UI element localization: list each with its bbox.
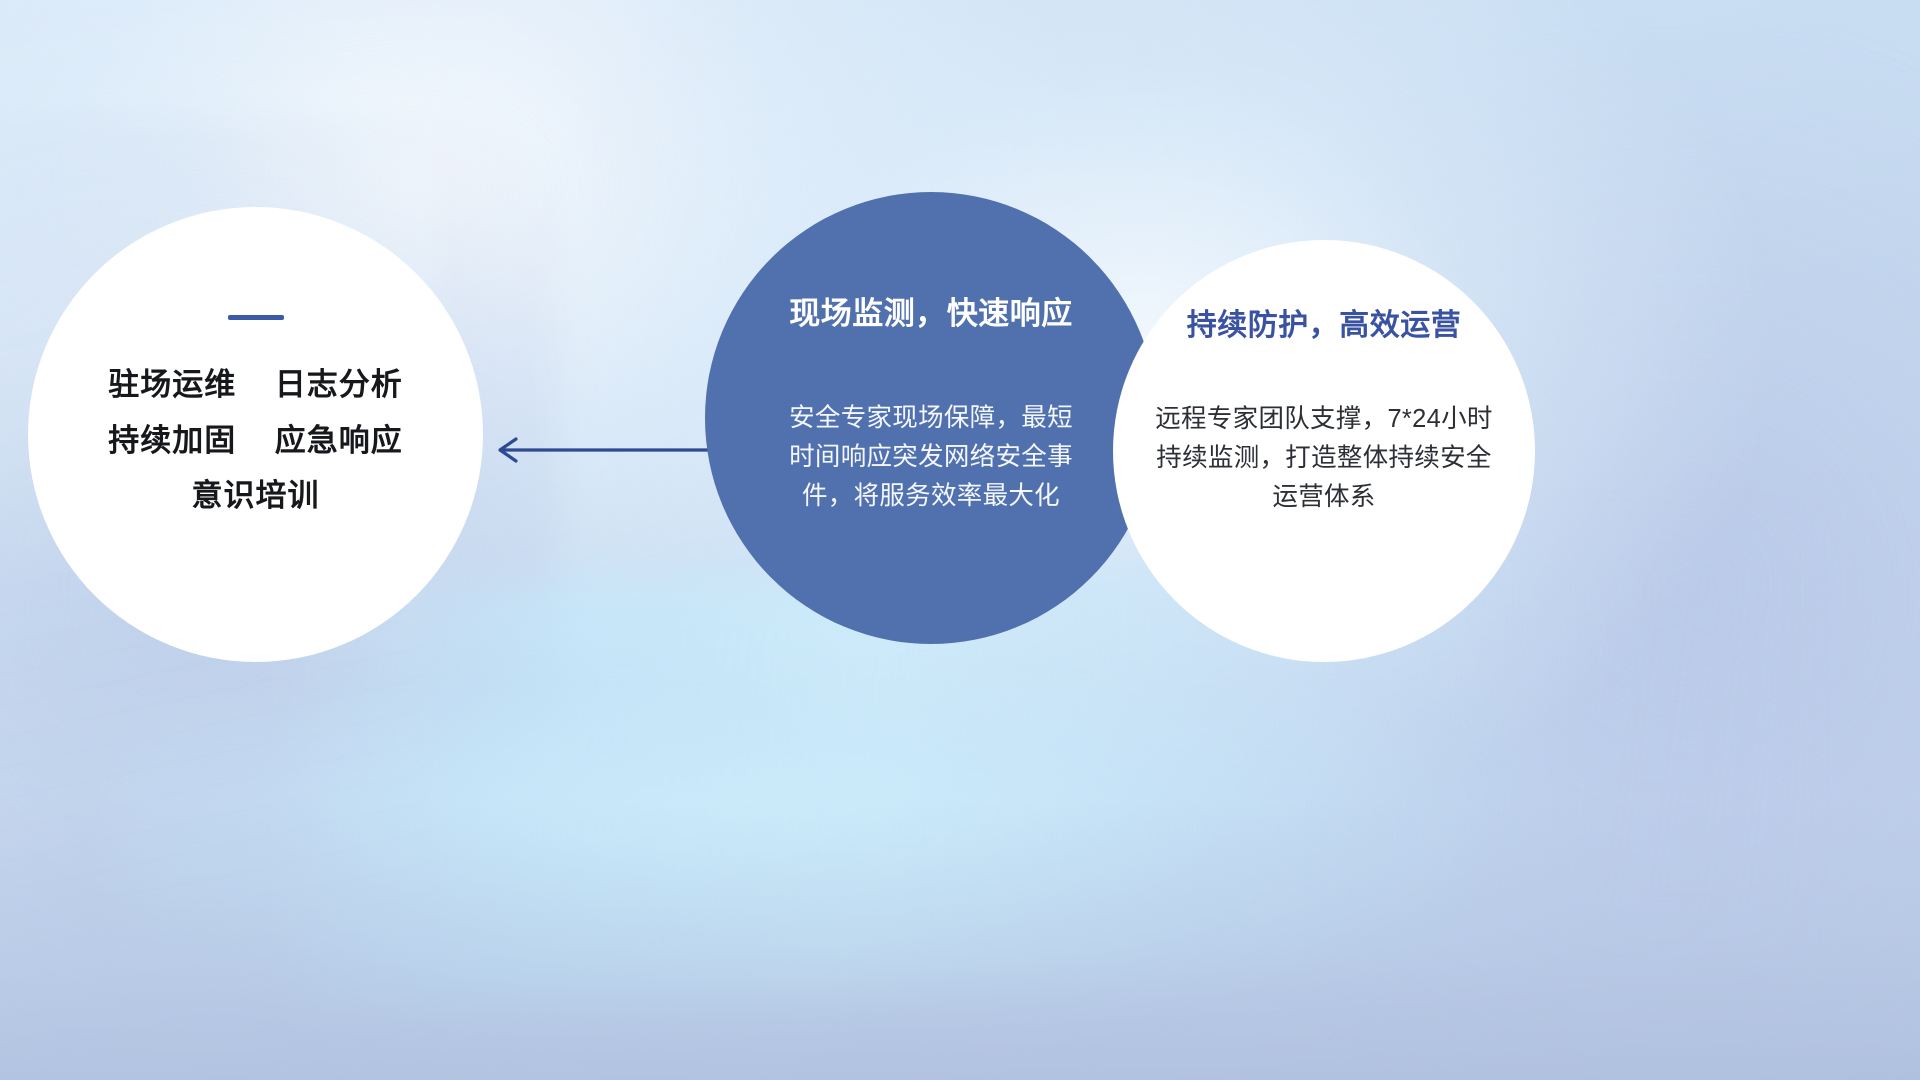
left-circle-line-2: 持续加固 应急响应	[108, 424, 402, 459]
right-circle-body: 远程专家团队支撑，7*24小时持续监测，打造整体持续安全运营体系	[1148, 400, 1500, 516]
mid-circle-title: 现场监测，快速响应	[789, 288, 1073, 333]
right-circle-title: 持续防护，高效运营	[1187, 300, 1462, 344]
mid-circle-body: 安全专家现场保障，最短时间响应突发网络安全事件，将服务效率最大化	[787, 399, 1075, 515]
left-circle-text-block: 驻场运维 日志分析 持续加固 应急响应 意识培训	[108, 368, 402, 514]
left-circle-line-1: 驻场运维 日志分析	[108, 368, 402, 403]
left-service-circle[interactable]: 驻场运维 日志分析 持续加固 应急响应 意识培训	[28, 207, 483, 662]
divider-dash	[228, 315, 284, 320]
mid-onsite-monitoring-circle[interactable]: 现场监测，快速响应 安全专家现场保障，最短时间响应突发网络安全事件，将服务效率最…	[705, 192, 1157, 644]
diagram-canvas: 驻场运维 日志分析 持续加固 应急响应 意识培训 现场监测，快速响应 安全专家现…	[0, 0, 1920, 1080]
left-circle-line-3: 意识培训	[191, 479, 319, 514]
background-bottom-shade	[0, 800, 1920, 1080]
right-continuous-protection-circle[interactable]: 持续防护，高效运营 远程专家团队支撑，7*24小时持续监测，打造整体持续安全运营…	[1113, 240, 1535, 662]
